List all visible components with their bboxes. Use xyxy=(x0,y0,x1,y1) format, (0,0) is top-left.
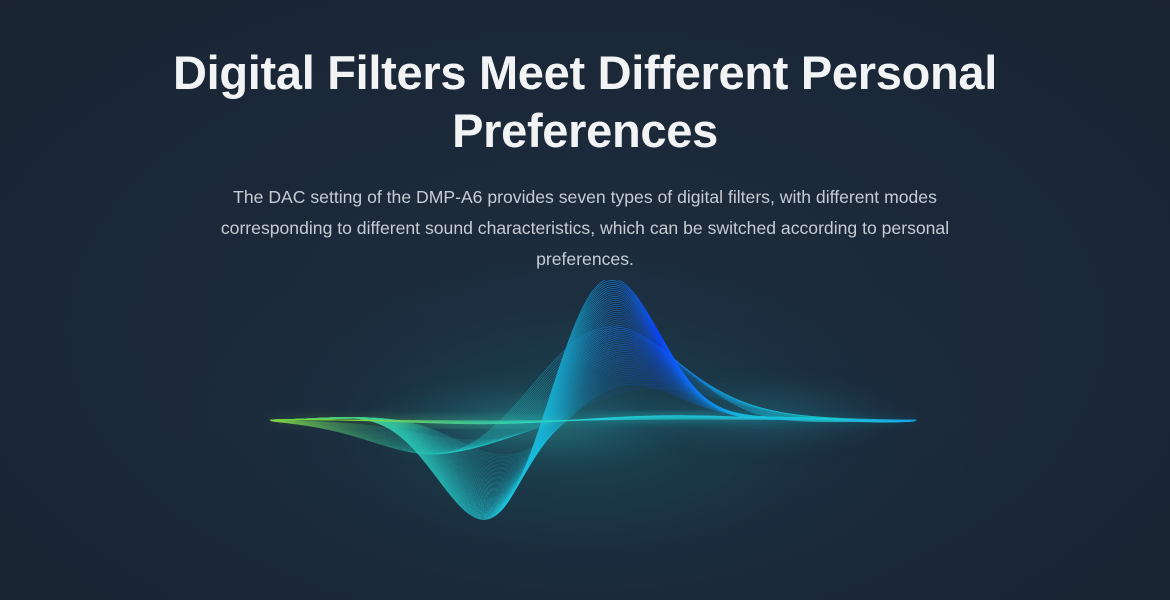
banner-text-block: Digital Filters Meet Different Personal … xyxy=(0,44,1170,275)
waveform-line xyxy=(270,301,916,510)
page-title: Digital Filters Meet Different Personal … xyxy=(0,44,1170,160)
waveform-svg xyxy=(0,280,1170,580)
waveform-line xyxy=(270,355,916,478)
waveform-line xyxy=(270,306,916,506)
waveform-line xyxy=(270,314,916,502)
waveform-line xyxy=(270,337,916,490)
promo-banner: Digital Filters Meet Different Personal … xyxy=(0,0,1170,600)
waveform-line xyxy=(270,299,916,511)
waveform-line xyxy=(270,352,916,481)
waveform-line xyxy=(270,335,916,491)
page-subtitle: The DAC setting of the DMP-A6 provides s… xyxy=(0,182,1170,275)
waveform-line xyxy=(270,285,916,517)
waveform-layer-main xyxy=(270,280,916,519)
audio-waveform-graphic xyxy=(0,280,1170,580)
waveform-line xyxy=(270,353,916,479)
waveform-line xyxy=(270,320,916,500)
waveform-line xyxy=(270,344,916,485)
waveform-line xyxy=(270,328,916,496)
